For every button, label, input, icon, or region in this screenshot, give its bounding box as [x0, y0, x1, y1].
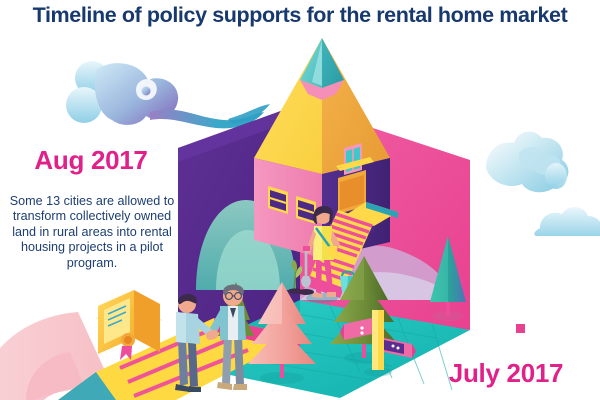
infographic-canvas: Timeline of policy supports for the rent… — [0, 0, 600, 400]
timeline-body-aug-2017: Some 13 cities are allowed to transform … — [8, 194, 176, 271]
pink-marker — [516, 324, 525, 333]
pyramid-roof — [254, 38, 390, 174]
swirl-cloud-top-left — [66, 61, 270, 128]
page-title: Timeline of policy supports for the rent… — [0, 2, 600, 28]
timeline-date-aug-2017: Aug 2017 — [6, 145, 176, 176]
cloud-right — [486, 132, 568, 193]
timeline-date-july-2017: July 2017 — [420, 358, 592, 389]
cloud-bottom-right — [534, 207, 600, 236]
